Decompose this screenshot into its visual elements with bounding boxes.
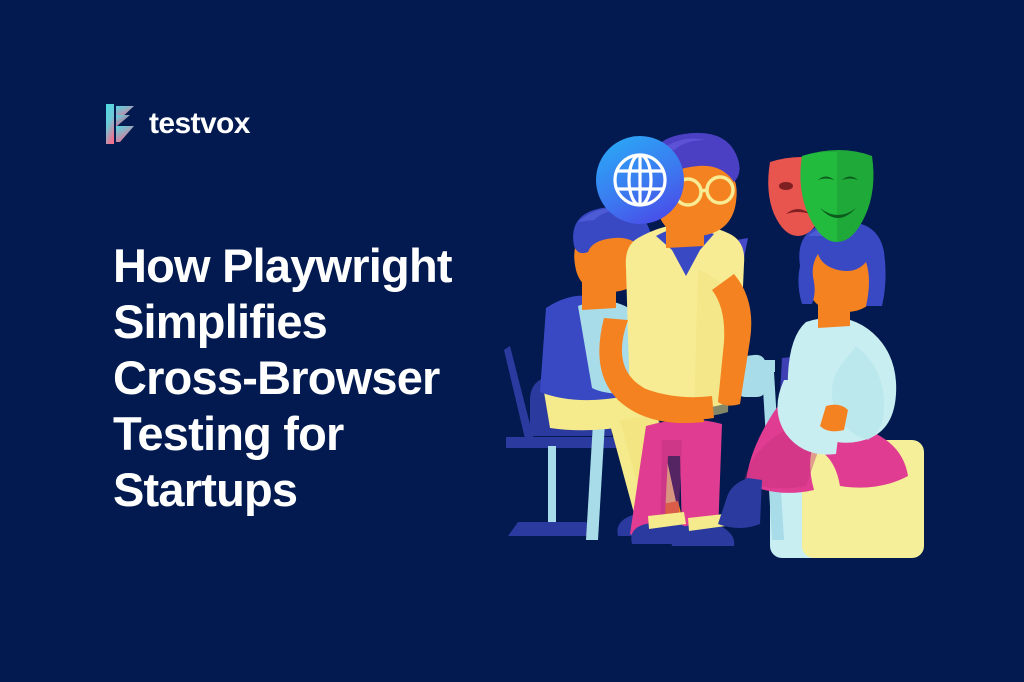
brand-name: testvox: [149, 109, 250, 139]
banner-root: testvox How Playwright Simplifies Cross-…: [0, 0, 1024, 682]
headline-line-4: Testing for: [113, 406, 513, 462]
theater-masks-icon: [768, 150, 873, 242]
brand-logo[interactable]: testvox: [104, 103, 250, 145]
page-title: How Playwright Simplifies Cross-Browser …: [113, 238, 513, 518]
headline-line-2: Simplifies: [113, 294, 513, 350]
headline-line-5: Startups: [113, 462, 513, 518]
headline-line-3: Cross-Browser: [113, 350, 513, 406]
globe-icon: [596, 136, 684, 224]
headline-line-1: How Playwright: [113, 238, 513, 294]
testvox-logo-mark-icon: [104, 103, 138, 145]
team-cross-browser-testing-illustration: [470, 110, 990, 580]
